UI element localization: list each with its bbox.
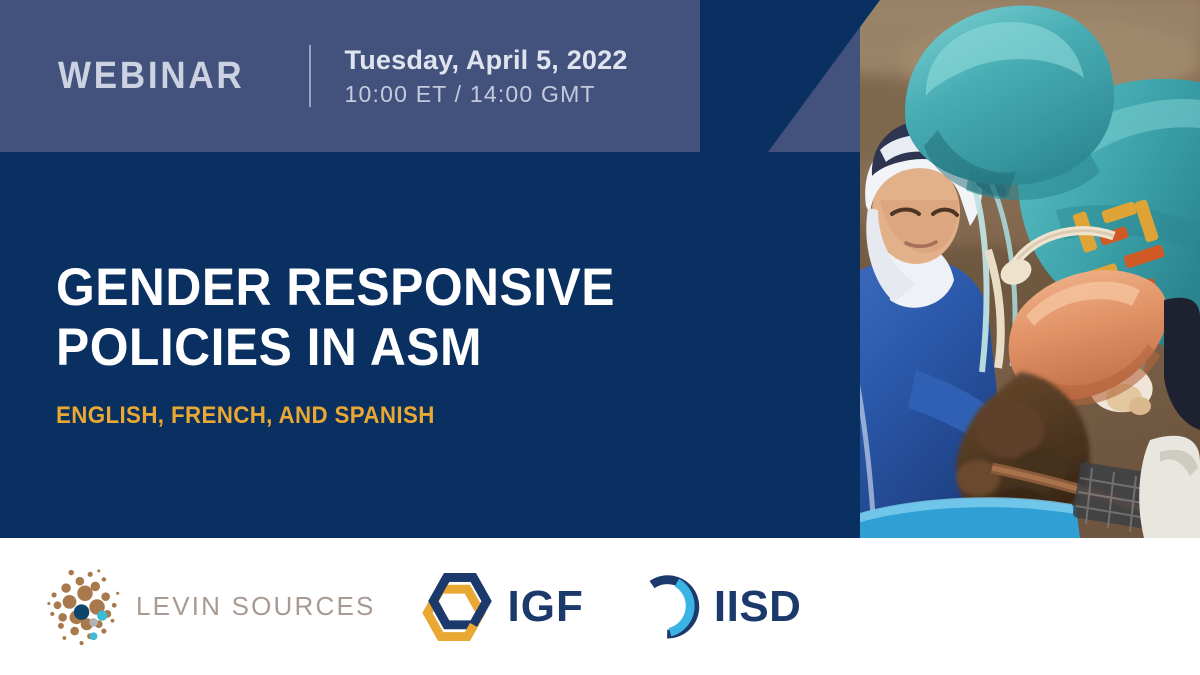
webinar-date: Tuesday, April 5, 2022 — [345, 43, 628, 78]
igf-wordmark: IGF — [508, 582, 584, 632]
title-block: GENDER RESPONSIVE POLICIES IN ASM ENGLIS… — [56, 258, 756, 430]
logo-footer-bar: LEVIN SOURCES IGF IISD — [0, 538, 1200, 675]
webinar-time: 10:00 ET / 14:00 GMT — [345, 80, 628, 109]
header-divider — [309, 45, 311, 107]
logo-iisd: IISD — [632, 573, 802, 641]
iisd-wordmark: IISD — [714, 582, 802, 632]
page-title-line-2: POLICIES IN ASM — [56, 318, 714, 378]
logo-levin-sources: LEVIN SOURCES — [42, 564, 376, 650]
languages-subtitle: ENGLISH, FRENCH, AND SPANISH — [56, 402, 707, 430]
page-title-line-1: GENDER RESPONSIVE — [56, 258, 714, 318]
webinar-eyebrow: WEBINAR — [58, 57, 244, 95]
dot-cluster-icon — [42, 564, 128, 650]
webinar-promo-poster: WEBINAR Tuesday, April 5, 2022 10:00 ET … — [0, 0, 1200, 675]
double-hexagon-icon — [420, 570, 494, 644]
header-datetime: Tuesday, April 5, 2022 10:00 ET / 14:00 … — [345, 43, 628, 109]
logo-igf: IGF — [420, 570, 584, 644]
levin-sources-wordmark: LEVIN SOURCES — [136, 591, 376, 622]
split-ring-icon — [632, 573, 700, 641]
header-content: WEBINAR Tuesday, April 5, 2022 10:00 ET … — [0, 0, 860, 152]
